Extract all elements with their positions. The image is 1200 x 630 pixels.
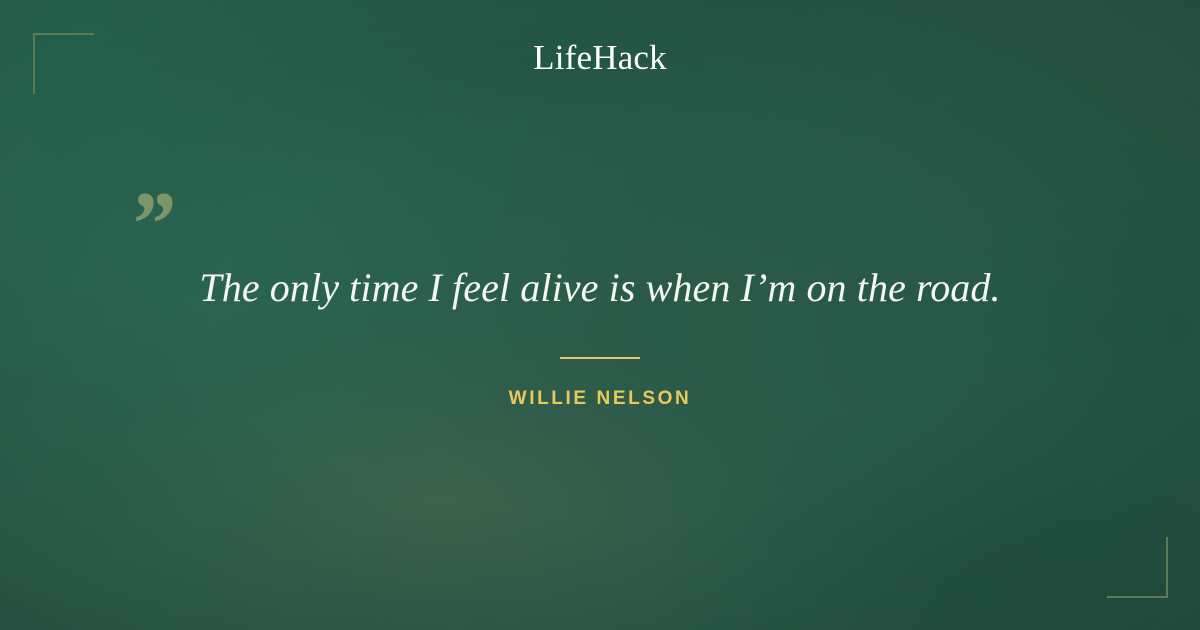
background-vignette [0, 0, 1200, 630]
quote-author: WILLIE NELSON [0, 388, 1200, 411]
quote-card: LifeHack ” The only time I feel alive is… [0, 0, 1200, 630]
divider-container [0, 357, 1200, 359]
background-glow-top-left [0, 0, 1200, 630]
quote-text: The only time I feel alive is when I’m o… [0, 262, 1200, 313]
background-glow-bottom-center [0, 0, 1200, 630]
background-glow-right [0, 0, 1200, 630]
quote-text-container: The only time I feel alive is when I’m o… [0, 262, 1200, 313]
gold-divider [560, 357, 640, 359]
corner-bracket-bottom-right-icon [1107, 537, 1168, 598]
background-glow-top-center [0, 0, 1200, 630]
background-glow-bottom-left [0, 0, 1200, 630]
brand-logo: LifeHack [0, 40, 1200, 75]
background-glow-bottom-right [0, 0, 1200, 630]
quotation-mark-icon: ” [128, 178, 174, 270]
